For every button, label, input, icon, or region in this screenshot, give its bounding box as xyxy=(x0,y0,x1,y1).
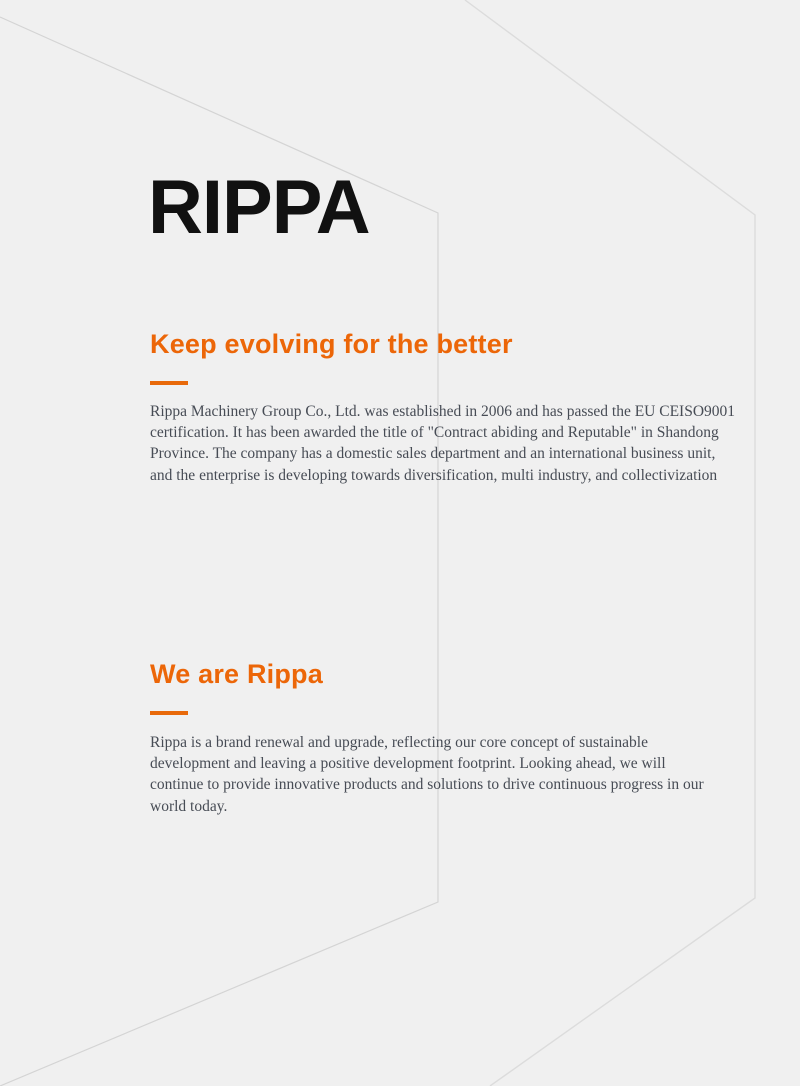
brand-wordmark: RIPPA xyxy=(148,168,370,248)
page-content: RIPPA Keep evolving for the better Rippa… xyxy=(0,0,800,1086)
section-heading: Keep evolving for the better xyxy=(150,328,740,360)
section-heading: We are Rippa xyxy=(150,658,720,690)
section-body-text: Rippa is a brand renewal and upgrade, re… xyxy=(150,715,720,817)
section-body-text: Rippa Machinery Group Co., Ltd. was esta… xyxy=(150,385,740,486)
section-we-are-rippa: We are Rippa Rippa is a brand renewal an… xyxy=(150,658,720,817)
section-keep-evolving: Keep evolving for the better Rippa Machi… xyxy=(150,328,740,486)
